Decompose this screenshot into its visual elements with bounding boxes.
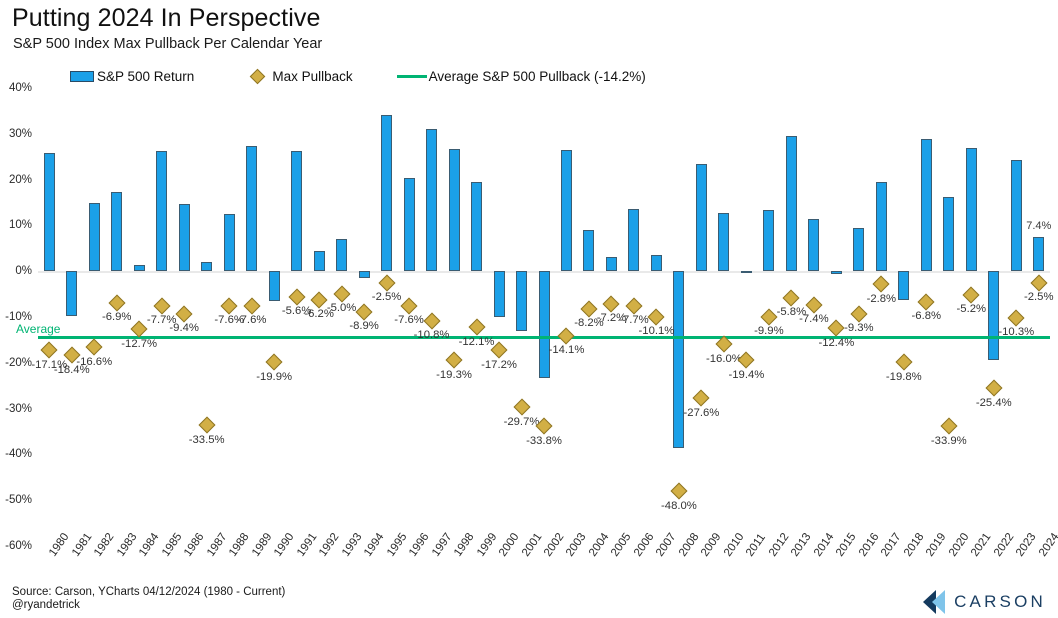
y-axis-tick: -60% <box>5 540 32 552</box>
pullback-label-1983: -6.9% <box>102 311 132 323</box>
pullback-label-1997: -10.8% <box>414 329 450 341</box>
pullback-label-1996: -7.6% <box>394 314 424 326</box>
chart-legend: S&P 500 Return Max Pullback Average S&P … <box>70 69 646 84</box>
bar-2008 <box>673 271 684 447</box>
pullback-marker-1991 <box>288 288 305 305</box>
pullback-marker-2003 <box>558 327 575 344</box>
x-axis-tick-2003: 2003 <box>564 531 589 559</box>
pullback-label-2016: -9.3% <box>844 322 874 334</box>
x-axis-tick-2015: 2015 <box>834 531 859 559</box>
x-axis-tick-1993: 1993 <box>340 531 365 559</box>
bar-1981 <box>66 271 77 315</box>
x-axis-tick-1980: 1980 <box>47 531 72 559</box>
bar-2010 <box>718 213 729 272</box>
pullback-label-2022: -25.4% <box>976 397 1012 409</box>
bar-1996 <box>404 178 415 271</box>
pullback-label-1999: -12.1% <box>459 336 495 348</box>
bar-2004 <box>583 230 594 271</box>
bar-2024 <box>1033 237 1044 271</box>
x-axis-tick-2005: 2005 <box>609 531 634 559</box>
bar-2011 <box>741 271 752 273</box>
page-subtitle: S&P 500 Index Max Pullback Per Calendar … <box>13 36 322 52</box>
bar-2020 <box>943 197 954 272</box>
bar-2005 <box>606 257 617 271</box>
pullback-label-2018: -19.8% <box>886 371 922 383</box>
y-axis-tick: 30% <box>9 128 32 140</box>
bar-2007 <box>651 255 662 271</box>
bar-1992 <box>314 251 325 272</box>
bar-1999 <box>471 182 482 271</box>
pullback-marker-2018 <box>895 353 912 370</box>
x-axis-tick-1994: 1994 <box>362 531 387 559</box>
bar-2019 <box>921 139 932 271</box>
x-axis-tick-2024: 2024 <box>1037 531 1058 559</box>
pullback-label-1993: -5.0% <box>327 302 357 314</box>
pullback-label-1984: -12.7% <box>121 338 157 350</box>
bar-2006 <box>628 209 639 271</box>
bar-2001 <box>516 271 527 331</box>
pullback-marker-1983 <box>108 294 125 311</box>
x-axis-tick-2007: 2007 <box>654 531 679 559</box>
x-axis-tick-2020: 2020 <box>947 531 972 559</box>
x-axis-tick-2021: 2021 <box>969 531 994 559</box>
x-axis-tick-2016: 2016 <box>857 531 882 559</box>
bar-2017 <box>876 182 887 271</box>
pullback-marker-1992 <box>311 291 328 308</box>
pullback-label-1989: -7.6% <box>237 314 267 326</box>
y-axis-tick: 20% <box>9 174 32 186</box>
pullback-label-2000: -17.2% <box>481 359 517 371</box>
x-axis-tick-2019: 2019 <box>924 531 949 559</box>
legend-label-return: S&P 500 Return <box>97 69 194 84</box>
chart-plot-area: 40%30%20%10%0%-10%-20%-30%-40%-50%-60%7.… <box>38 88 1050 546</box>
carson-chevron-icon <box>923 590 945 614</box>
x-axis-tick-1999: 1999 <box>475 531 500 559</box>
pullback-marker-2015 <box>828 319 845 336</box>
pullback-marker-2022 <box>985 379 1002 396</box>
legend-item-average: Average S&P 500 Pullback (-14.2%) <box>397 69 646 84</box>
bar-2002 <box>539 271 550 378</box>
legend-diamond-swatch-icon <box>250 69 266 85</box>
bar-1988 <box>224 214 235 271</box>
bar-2022 <box>988 271 999 360</box>
x-axis-tick-2008: 2008 <box>677 531 702 559</box>
pullback-marker-2007 <box>648 309 665 326</box>
x-axis-tick-1989: 1989 <box>250 531 275 559</box>
pullback-marker-2009 <box>693 389 710 406</box>
pullback-marker-2008 <box>670 483 687 500</box>
pullback-marker-2019 <box>918 294 935 311</box>
author-handle: @ryandetrick <box>12 599 80 611</box>
pullback-marker-1982 <box>86 339 103 356</box>
pullback-label-1998: -19.3% <box>436 369 472 381</box>
pullback-marker-1993 <box>333 286 350 303</box>
x-axis-tick-1996: 1996 <box>407 531 432 559</box>
pullback-marker-1987 <box>198 416 215 433</box>
pullback-label-2014: -7.4% <box>799 313 829 325</box>
x-axis-tick-1985: 1985 <box>160 531 185 559</box>
bar-2016 <box>853 228 864 272</box>
pullback-label-1986: -9.4% <box>169 322 199 334</box>
pullback-marker-1980 <box>41 341 58 358</box>
bar-1982 <box>89 203 100 271</box>
pullback-marker-2012 <box>760 308 777 325</box>
bar-1994 <box>359 271 370 278</box>
x-axis-tick-2002: 2002 <box>542 531 567 559</box>
y-axis-tick: 0% <box>15 265 32 277</box>
pullback-marker-1988 <box>221 298 238 315</box>
pullback-marker-2017 <box>873 276 890 293</box>
pullback-label-2011: -19.4% <box>728 369 764 381</box>
bar-1983 <box>111 192 122 271</box>
pullback-marker-2023 <box>1008 310 1025 327</box>
bar-1984 <box>134 265 145 271</box>
x-axis-tick-1987: 1987 <box>205 531 230 559</box>
x-axis-tick-1983: 1983 <box>115 531 140 559</box>
legend-label-average: Average S&P 500 Pullback (-14.2%) <box>429 69 646 84</box>
x-axis-tick-1997: 1997 <box>430 531 455 559</box>
pullback-marker-2013 <box>783 289 800 306</box>
pullback-marker-2005 <box>603 296 620 313</box>
bar-1998 <box>449 149 460 271</box>
x-axis-tick-2009: 2009 <box>699 531 724 559</box>
bar-2018 <box>898 271 909 299</box>
y-axis-tick: -20% <box>5 357 32 369</box>
pullback-marker-1999 <box>468 318 485 335</box>
pullback-marker-1996 <box>401 298 418 315</box>
pullback-label-2019: -6.8% <box>912 310 942 322</box>
x-axis-tick-2022: 2022 <box>992 531 1017 559</box>
x-axis-tick-1986: 1986 <box>182 531 207 559</box>
bar-value-label-2024: 7.4% <box>1026 220 1051 232</box>
bar-2009 <box>696 164 707 272</box>
bar-1987 <box>201 262 212 271</box>
y-axis-tick: 40% <box>9 82 32 94</box>
x-axis-tick-1982: 1982 <box>92 531 117 559</box>
x-axis-tick-2013: 2013 <box>789 531 814 559</box>
pullback-label-2023: -10.3% <box>998 326 1034 338</box>
average-pullback-line <box>38 336 1050 339</box>
pullback-label-2003: -14.1% <box>549 344 585 356</box>
brand-name: CARSON <box>954 592 1046 612</box>
y-axis-tick: -30% <box>5 403 32 415</box>
pullback-label-2002: -33.8% <box>526 435 562 447</box>
x-axis-tick-1992: 1992 <box>317 531 342 559</box>
pullback-marker-2001 <box>513 399 530 416</box>
bar-2014 <box>808 219 819 271</box>
bar-1990 <box>269 271 280 301</box>
x-axis-tick-2004: 2004 <box>587 531 612 559</box>
bar-1989 <box>246 146 257 271</box>
bar-2015 <box>831 271 842 274</box>
y-axis-tick: -50% <box>5 494 32 506</box>
x-axis-tick-2006: 2006 <box>632 531 657 559</box>
pullback-marker-1997 <box>423 312 440 329</box>
pullback-marker-2014 <box>805 297 822 314</box>
legend-item-return: S&P 500 Return <box>70 69 194 84</box>
pullback-label-2017: -2.8% <box>867 293 897 305</box>
x-axis-tick-2018: 2018 <box>902 531 927 559</box>
bar-2023 <box>1011 160 1022 271</box>
pullback-marker-2004 <box>580 300 597 317</box>
bar-2012 <box>763 210 774 271</box>
x-axis-tick-1981: 1981 <box>70 531 95 559</box>
bar-1986 <box>179 204 190 271</box>
x-axis-tick-1990: 1990 <box>272 531 297 559</box>
pullback-marker-1986 <box>176 306 193 323</box>
x-axis-tick-2010: 2010 <box>722 531 747 559</box>
pullback-label-1994: -8.9% <box>349 320 379 332</box>
bar-1995 <box>381 115 392 271</box>
bar-1993 <box>336 239 347 272</box>
x-axis-tick-1995: 1995 <box>385 531 410 559</box>
pullback-marker-2016 <box>850 305 867 322</box>
pullback-label-2007: -10.1% <box>639 325 675 337</box>
pullback-label-2001: -29.7% <box>504 416 540 428</box>
y-axis-tick: 10% <box>9 219 32 231</box>
bar-1997 <box>426 129 437 271</box>
bar-2000 <box>494 271 505 317</box>
legend-label-pullback: Max Pullback <box>272 69 352 84</box>
pullback-label-2024: -2.5% <box>1024 291 1054 303</box>
pullback-label-2015: -12.4% <box>818 337 854 349</box>
page-title: Putting 2024 In Perspective <box>12 4 320 33</box>
pullback-label-1995: -2.5% <box>372 291 402 303</box>
x-axis-tick-2001: 2001 <box>520 531 545 559</box>
x-axis-tick-2017: 2017 <box>879 531 904 559</box>
pullback-marker-1995 <box>378 274 395 291</box>
x-axis-tick-2023: 2023 <box>1014 531 1039 559</box>
bar-2021 <box>966 148 977 271</box>
pullback-label-2012: -9.9% <box>754 325 784 337</box>
pullback-label-1987: -33.5% <box>189 434 225 446</box>
legend-item-pullback: Max Pullback <box>250 69 352 84</box>
pullback-label-2021: -5.2% <box>957 303 987 315</box>
pullback-label-2020: -33.9% <box>931 435 967 447</box>
x-axis-tick-2012: 2012 <box>767 531 792 559</box>
x-axis-tick-1988: 1988 <box>227 531 252 559</box>
legend-bar-swatch-icon <box>70 71 94 82</box>
pullback-label-1982: -16.6% <box>76 356 112 368</box>
bar-1991 <box>291 151 302 271</box>
pullback-marker-2024 <box>1030 274 1047 291</box>
pullback-label-2009: -27.6% <box>684 407 720 419</box>
x-axis-tick-2000: 2000 <box>497 531 522 559</box>
pullback-marker-1990 <box>266 354 283 371</box>
pullback-marker-1998 <box>446 351 463 368</box>
bar-2003 <box>561 150 572 271</box>
pullback-marker-1989 <box>243 298 260 315</box>
bar-1985 <box>156 151 167 271</box>
pullback-marker-2021 <box>963 287 980 304</box>
x-axis-tick-1984: 1984 <box>137 531 162 559</box>
pullback-label-2008: -48.0% <box>661 500 697 512</box>
pullback-marker-1994 <box>356 303 373 320</box>
x-axis-tick-2011: 2011 <box>744 532 768 559</box>
x-axis-tick-1998: 1998 <box>452 531 477 559</box>
average-line-label: Average <box>16 322 60 336</box>
pullback-marker-1985 <box>153 298 170 315</box>
bar-1980 <box>44 153 55 271</box>
source-note: Source: Carson, YCharts 04/12/2024 (1980… <box>12 585 285 599</box>
x-axis-tick-2014: 2014 <box>812 531 837 559</box>
x-axis-tick-1991: 1991 <box>295 531 320 559</box>
pullback-marker-2020 <box>940 418 957 435</box>
pullback-label-1990: -19.9% <box>256 371 292 383</box>
y-axis-tick: -40% <box>5 448 32 460</box>
pullback-marker-2006 <box>625 298 642 315</box>
bar-2013 <box>786 136 797 272</box>
y-axis-tick: -10% <box>5 311 32 323</box>
brand-logo: CARSON <box>923 590 1046 614</box>
legend-line-swatch-icon <box>397 75 427 79</box>
